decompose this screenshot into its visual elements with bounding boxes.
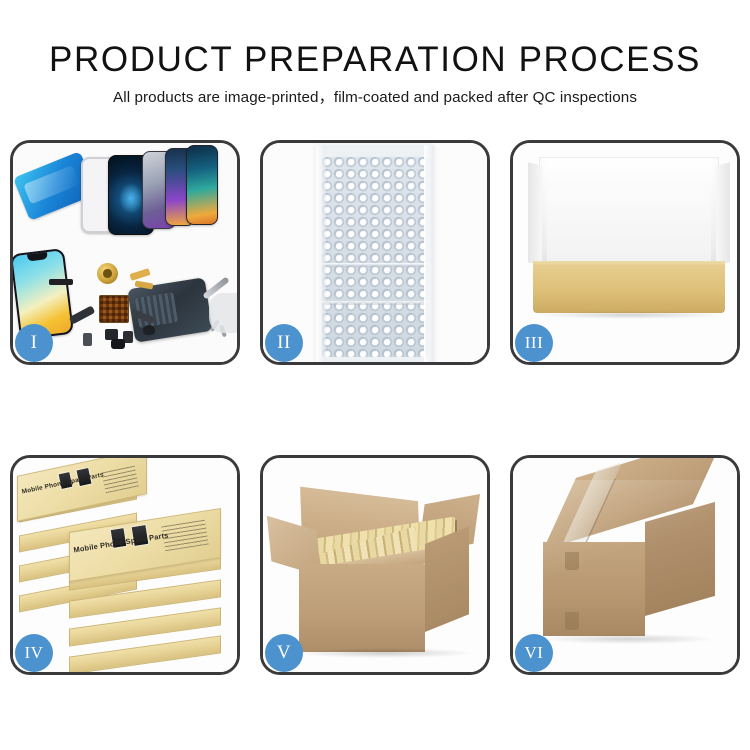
- process-step-panel-3: III: [510, 140, 740, 365]
- step-badge-6: VI: [515, 634, 553, 672]
- bubble-wrap-fold: [322, 263, 428, 267]
- carton-flap-tab: [565, 612, 579, 630]
- bubble-wrap-edge-left: [316, 145, 326, 362]
- step-badge-4: IV: [15, 634, 53, 672]
- product-preparation-process-page: PRODUCT PREPARATION PROCESS All products…: [0, 0, 750, 750]
- header: PRODUCT PREPARATION PROCESS All products…: [0, 0, 750, 108]
- carton-right-face-image: [425, 526, 469, 632]
- process-step-panel-2: II: [260, 140, 490, 365]
- foam-insert-image: [547, 191, 711, 269]
- carton-flap-tab: [565, 552, 579, 570]
- drop-shadow: [537, 311, 723, 319]
- process-step-panel-4: Mobile Phone Spare Parts Mobile Phone Sp…: [10, 455, 240, 675]
- drop-shadow: [297, 648, 473, 658]
- process-step-panel-1: I: [10, 140, 240, 365]
- carton-right-face-image: [645, 502, 715, 616]
- camera-module-part-image: [111, 339, 125, 349]
- step-badge-3: III: [515, 324, 553, 362]
- speaker-part-image: [143, 325, 155, 335]
- process-step-panel-5: V: [260, 455, 490, 675]
- mailer-box-base-image: [533, 265, 725, 313]
- earpiece-mesh-part-image: [49, 279, 73, 285]
- phone-screen-teal-image: [186, 145, 218, 225]
- carton-front-face-image: [543, 542, 645, 636]
- step-badge-5: V: [265, 634, 303, 672]
- step-badge-1: I: [15, 324, 53, 362]
- bubble-wrap-edge-right: [424, 145, 434, 362]
- step-badge-2: II: [265, 324, 303, 362]
- vibration-motor-part-image: [97, 263, 118, 284]
- shield-grid-part-image: [99, 295, 129, 323]
- page-title: PRODUCT PREPARATION PROCESS: [0, 40, 750, 80]
- bubble-texture: [322, 157, 428, 357]
- hand-image: [209, 293, 237, 333]
- process-step-panel-6: VI: [510, 455, 740, 675]
- bubble-wrap-fold: [322, 301, 428, 305]
- drop-shadow: [543, 634, 715, 644]
- chip-part-3-image: [83, 333, 92, 346]
- carton-front-face-image: [299, 564, 425, 652]
- bubble-wrap-sheet-image: [316, 145, 434, 362]
- page-subtitle: All products are image-printed，film-coat…: [0, 88, 750, 108]
- process-step-grid: I II: [10, 140, 740, 680]
